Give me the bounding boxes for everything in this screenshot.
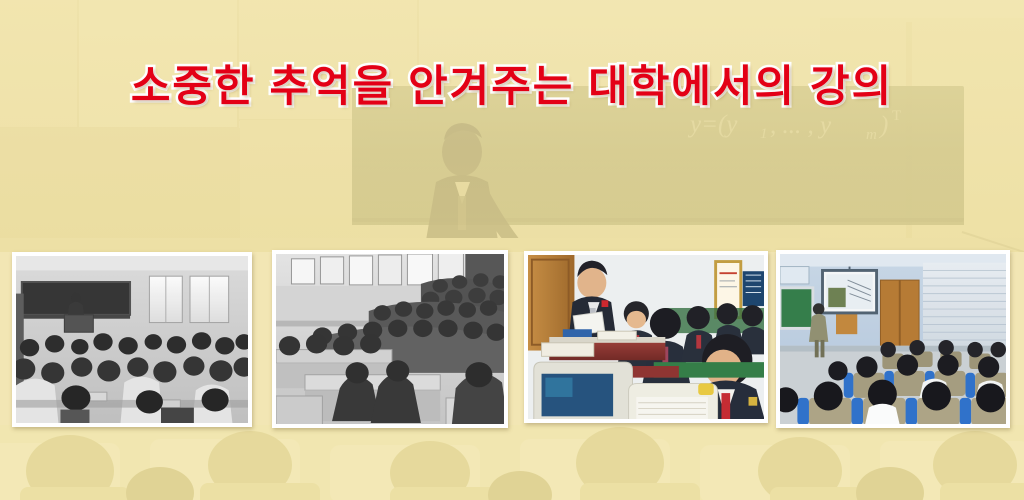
svg-text:): ) [878,112,888,139]
svg-text:y=(y: y=(y [687,111,738,138]
background-lecturer-scene: y=(y 1 , ... , y m ) T [0,0,1024,252]
svg-text:m: m [866,127,877,143]
background-bottom-photo [0,425,1024,500]
photo-historic-lecture-hall-image [276,254,504,424]
background-audience-scene [0,425,1024,500]
banner-stage: y=(y 1 , ... , y m ) T 소중한 추억을 안겨주 [0,0,1024,500]
svg-text:, ... , y: , ... , y [770,112,832,139]
background-top-photo: y=(y 1 , ... , y m ) T [0,0,1024,252]
photo-modern-lecture-hall-image [780,254,1006,424]
photo-historic-classroom[interactable] [12,252,252,427]
photo-computer-lab-lesson[interactable] [524,251,768,423]
svg-text:1: 1 [760,126,768,142]
photo-historic-lecture-hall[interactable] [272,250,508,428]
page-title: 소중한 추억을 안겨주는 대학에서의 강의 [131,52,893,114]
photo-modern-lecture-hall[interactable] [776,250,1010,428]
photo-historic-classroom-image [16,256,248,423]
photo-computer-lab-lesson-image [528,255,764,419]
banner-title-area: 소중한 추억을 안겨주는 대학에서의 강의 [0,52,1024,114]
